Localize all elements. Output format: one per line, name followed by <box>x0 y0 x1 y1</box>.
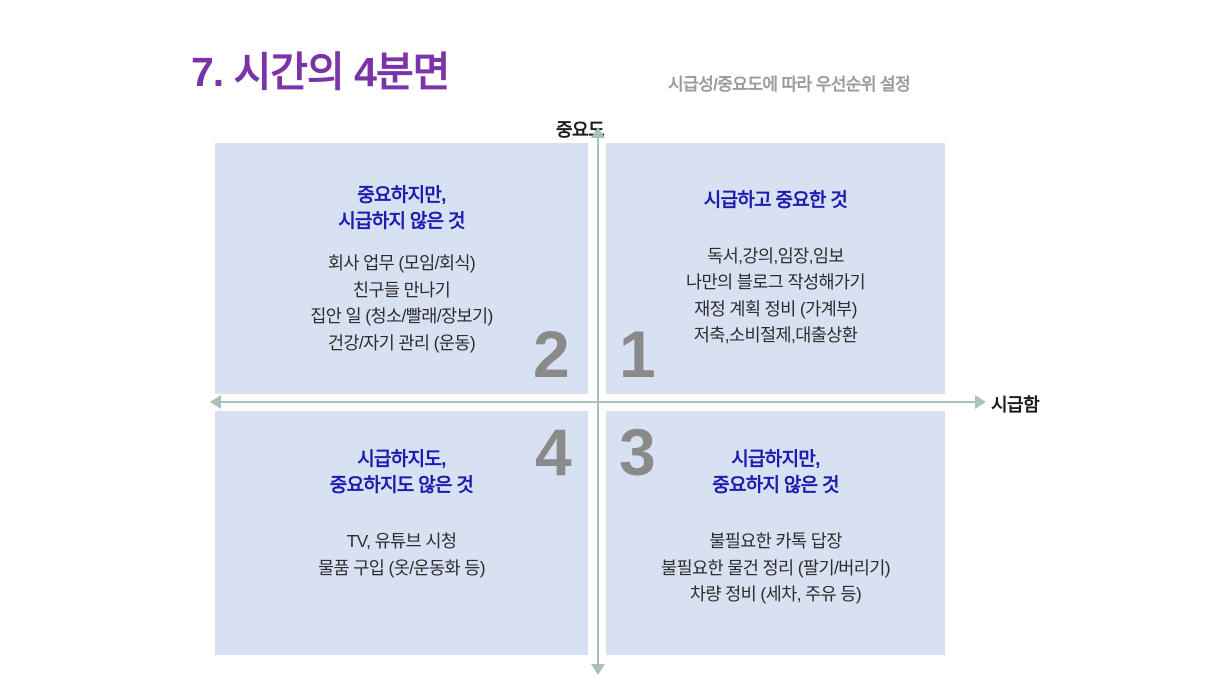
page-subtitle: 시급성/중요도에 따라 우선순위 설정 <box>668 70 910 95</box>
quadrant-1-items: 독서,강의,임장,임보 나만의 블로그 작성해가기 재정 계획 정비 (가계부)… <box>606 243 945 349</box>
quadrant-number-2: 2 <box>533 321 570 387</box>
quadrant-2-heading: 중요하지만, 시급하지 않은 것 <box>215 183 588 234</box>
axis-label-urgency: 시급함 <box>991 391 1039 417</box>
arrow-right-icon <box>975 395 986 409</box>
list-item: 회사 업무 (모임/회식) <box>215 250 588 277</box>
quadrant-1[interactable]: 시급하고 중요한 것 독서,강의,임장,임보 나만의 블로그 작성해가기 재정 … <box>606 143 945 394</box>
quadrant-number-4: 4 <box>535 419 572 485</box>
list-item: TV, 유튜브 시청 <box>215 528 588 555</box>
horizontal-axis-line <box>217 401 979 403</box>
quadrant-number-3: 3 <box>619 419 656 485</box>
quadrant-3-content: 시급하지만, 중요하지 않은 것 불필요한 카톡 답장 불필요한 물건 정리 (… <box>606 447 945 608</box>
quadrant-1-heading: 시급하고 중요한 것 <box>606 188 945 214</box>
list-item: 친구들 만나기 <box>215 277 588 304</box>
arrow-down-icon <box>591 664 605 675</box>
list-item: 차량 정비 (세차, 주유 등) <box>606 581 945 608</box>
quadrant-3-heading: 시급하지만, 중요하지 않은 것 <box>606 447 945 498</box>
list-item: 물품 구입 (옷/운동화 등) <box>215 555 588 582</box>
quadrant-4[interactable]: 시급하지도, 중요하지도 않은 것 TV, 유튜브 시청 물품 구입 (옷/운동… <box>215 411 588 655</box>
quadrant-4-content: 시급하지도, 중요하지도 않은 것 TV, 유튜브 시청 물품 구입 (옷/운동… <box>215 447 588 581</box>
page-title: 7. 시간의 4분면 <box>191 50 449 95</box>
list-item: 불필요한 물건 정리 (팔기/버리기) <box>606 555 945 582</box>
slide-canvas: 7. 시간의 4분면 시급성/중요도에 따라 우선순위 설정 중요도 시급함 중… <box>0 0 1216 684</box>
quadrant-3[interactable]: 시급하지만, 중요하지 않은 것 불필요한 카톡 답장 불필요한 물건 정리 (… <box>606 411 945 655</box>
quadrant-number-1: 1 <box>619 321 656 387</box>
list-item: 불필요한 카톡 답장 <box>606 528 945 555</box>
quadrant-1-content: 시급하고 중요한 것 독서,강의,임장,임보 나만의 블로그 작성해가기 재정 … <box>606 188 945 349</box>
quadrant-4-items: TV, 유튜브 시청 물품 구입 (옷/운동화 등) <box>215 528 588 581</box>
arrow-left-icon <box>210 395 221 409</box>
list-item: 나만의 블로그 작성해가기 <box>606 269 945 296</box>
quadrant-3-items: 불필요한 카톡 답장 불필요한 물건 정리 (팔기/버리기) 차량 정비 (세차… <box>606 528 945 608</box>
list-item: 재정 계획 정비 (가계부) <box>606 296 945 323</box>
arrow-up-icon <box>591 127 605 138</box>
list-item: 독서,강의,임장,임보 <box>606 243 945 270</box>
list-item: 저축,소비절제,대출상환 <box>606 322 945 349</box>
eisenhower-matrix: 중요하지만, 시급하지 않은 것 회사 업무 (모임/회식) 친구들 만나기 집… <box>215 143 945 655</box>
quadrant-4-heading: 시급하지도, 중요하지도 않은 것 <box>215 447 588 498</box>
